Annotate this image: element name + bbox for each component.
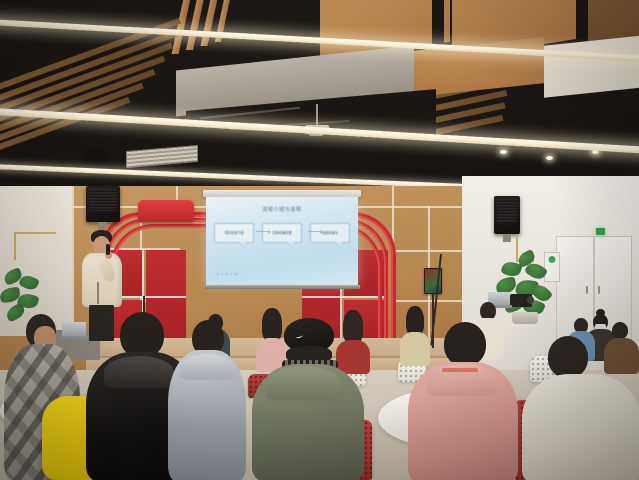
loudspeaker-left	[86, 186, 120, 222]
handheld-microphone[interactable]	[106, 244, 110, 255]
door-handle-right[interactable]	[598, 286, 600, 294]
door-handle-left[interactable]	[586, 286, 588, 294]
potted-plant-right	[496, 252, 556, 322]
slide-title: 流程介绍与说明	[206, 206, 358, 213]
arch-cap-left	[138, 200, 194, 222]
slide-arrow-1	[256, 231, 270, 232]
audience-member-6	[252, 318, 364, 480]
projection-screen-case	[203, 190, 361, 197]
loudspeaker-right	[494, 196, 520, 234]
slide-bubble-1: 项目背景介绍	[214, 223, 254, 243]
bubble-1-text: 项目背景介绍	[224, 231, 243, 236]
projector-pole	[316, 104, 318, 126]
projection-screen-weight-bar	[204, 285, 360, 289]
slide-bubble-3: 验收标准与	[310, 223, 350, 243]
audience-member-10	[408, 322, 518, 480]
ceiling	[0, 0, 639, 196]
seminar-room-photo: 流程介绍与说明 项目背景介绍 具体实施步骤 验收标准与	[0, 0, 639, 480]
slide-page-dots	[216, 273, 237, 276]
exit-sign-icon	[596, 228, 605, 235]
bubble-2-text: 具体实施步骤	[272, 231, 291, 236]
audience-member-3	[168, 320, 246, 480]
slide-bubble-group: 项目背景介绍 具体实施步骤 验收标准与	[214, 223, 350, 251]
audience-member-9b	[522, 336, 639, 480]
slide-arrow-2	[308, 231, 322, 232]
projection-screen: 流程介绍与说明 项目背景介绍 具体实施步骤 验收标准与	[206, 197, 358, 285]
bubble-3-text: 验收标准与	[322, 231, 338, 236]
